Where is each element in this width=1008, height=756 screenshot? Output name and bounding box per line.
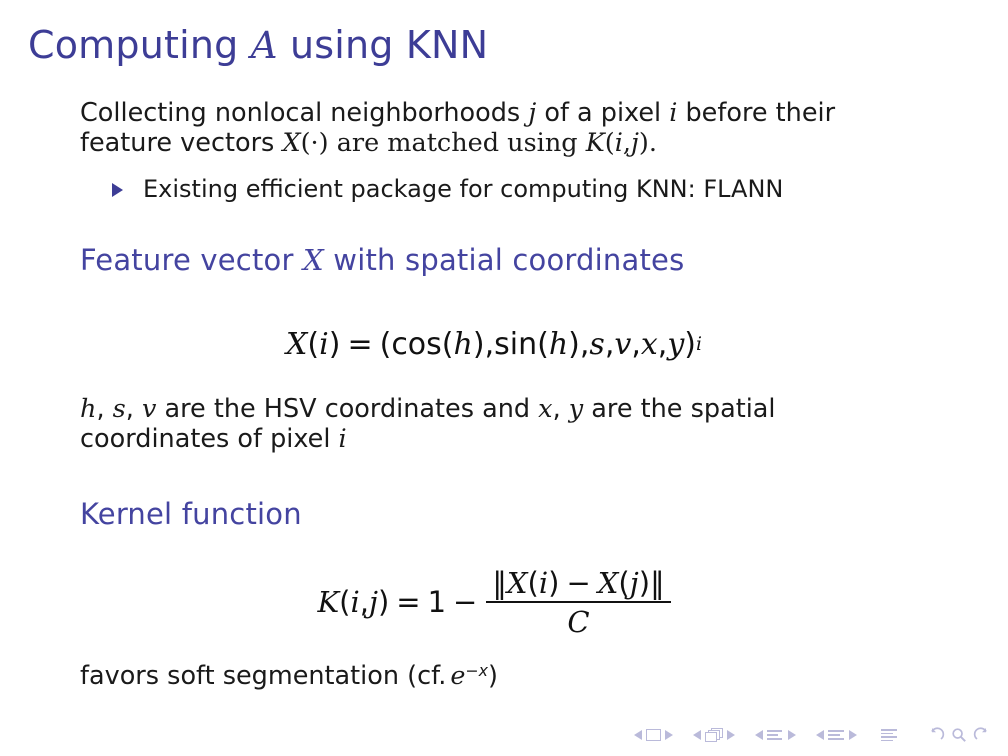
eq2-num-X1: X — [507, 566, 528, 600]
expl-comma-1: , — [96, 394, 112, 424]
eq1-lhs-i: i — [319, 326, 329, 364]
equation-feature-vector: X(i)=(cos(h), sin(h), s, v, x, y)i — [0, 326, 1008, 364]
eq1-lhs-X: X — [286, 326, 307, 364]
eq2-lhs-K: K — [317, 585, 339, 619]
go-back-icon[interactable] — [924, 727, 948, 743]
footnote-text-a: favors soft segmentation (cf. — [80, 661, 446, 691]
intro-var-X: X — [282, 128, 300, 158]
eq1-comma-5: , — [658, 326, 668, 364]
eq1-cos-paren-open: ( — [442, 326, 454, 364]
eq1-comma-3: , — [605, 326, 615, 364]
expl-var-h: h — [80, 394, 96, 424]
prev-section-icon[interactable] — [816, 730, 824, 740]
feature-vector-explanation: h, s, v are the HSV coordinates and x, y… — [0, 394, 1008, 454]
intro-paragraph: Collecting nonlocal neighborhoods j of a… — [0, 98, 1008, 158]
eq1-comma-4: , — [631, 326, 641, 364]
document-icon[interactable] — [881, 728, 898, 742]
footnote-exponent: −x — [465, 661, 488, 680]
intro-text-b: of a pixel — [536, 98, 669, 128]
eq2-minus: − — [446, 585, 484, 619]
bullet-list: Existing efficient package for computing… — [0, 174, 1008, 204]
page-title-suffix: using KNN — [278, 23, 489, 67]
list-item: Existing efficient package for computing… — [0, 174, 1008, 204]
section-icon[interactable] — [828, 728, 845, 742]
next-section-icon[interactable] — [849, 730, 857, 740]
eq1-equals: = — [340, 326, 379, 364]
intro-var-j2: j — [631, 128, 639, 158]
eq2-denominator: C — [561, 603, 595, 638]
eq1-comma-1: , — [485, 326, 495, 364]
eq1-comma-2: , — [580, 326, 590, 364]
eq1-y: y — [667, 326, 684, 364]
eq1-rhs-paren-close: ) — [684, 326, 696, 364]
subsection-navigation[interactable] — [751, 728, 800, 742]
eq1-sin-paren-close: ) — [568, 326, 580, 364]
page-title: Computing A using KNN — [28, 22, 488, 69]
equation-2-content: K(i,j)=1−‖X(i)−X(j)‖C — [317, 566, 672, 638]
next-slide-icon[interactable] — [665, 730, 673, 740]
equation-1-content: X(i)=(cos(h), sin(h), s, v, x, y)i — [286, 326, 702, 364]
eq1-subscript-i: i — [696, 326, 702, 364]
list-item-label: Existing efficient package for computing… — [143, 174, 783, 204]
next-frame-icon[interactable] — [727, 730, 735, 740]
expl-var-x: x — [538, 394, 552, 424]
eq2-num-i: i — [539, 566, 548, 600]
eq2-lhs-j: j — [369, 585, 378, 619]
eq2-num-j: j — [630, 566, 639, 600]
intro-paren-close: ). — [639, 128, 657, 158]
intro-text-a: Collecting nonlocal neighborhoods — [80, 98, 528, 128]
eq2-num-paren-open-2: ( — [618, 566, 629, 600]
eq1-cos-h: h — [454, 326, 473, 364]
eq1-x: x — [641, 326, 658, 364]
slide-icon[interactable] — [646, 729, 661, 741]
next-subsection-icon[interactable] — [788, 730, 796, 740]
expl-var-i: i — [339, 424, 347, 454]
eq2-equals: = — [389, 585, 427, 619]
equation-kernel-function: K(i,j)=1−‖X(i)−X(j)‖C — [0, 566, 1008, 638]
intro-text-d: (·) are matched using — [301, 128, 586, 158]
eq1-cos: cos — [391, 326, 441, 364]
eq2-num-minus: − — [559, 566, 597, 600]
eq2-norm-open: ‖ — [492, 566, 507, 600]
intro-var-i2: i — [615, 128, 623, 158]
footnote-e: e — [450, 661, 465, 691]
slide-body: Collecting nonlocal neighborhoods j of a… — [0, 98, 1008, 691]
intro-var-K: K — [586, 128, 605, 158]
eq2-norm-close: ‖ — [650, 566, 665, 600]
eq1-lhs-paren-close: ) — [329, 326, 341, 364]
eq1-sin-paren-open: ( — [537, 326, 549, 364]
eq1-sin: sin — [494, 326, 537, 364]
eq2-lhs-i: i — [350, 585, 359, 619]
eq1-lhs-paren-open: ( — [307, 326, 319, 364]
expl-comma-3: , — [553, 394, 569, 424]
section-navigation[interactable] — [812, 728, 861, 742]
document-navigation[interactable] — [881, 728, 898, 742]
block-heading-feature-vector: Feature vector X with spatial coordinate… — [0, 242, 1008, 278]
eq2-num-paren-close-1: ) — [548, 566, 559, 600]
triangle-right-icon — [112, 183, 123, 197]
block1-heading-suffix: with spatial coordinates — [324, 243, 685, 277]
eq2-numerator: ‖X(i)−X(j)‖ — [486, 567, 670, 601]
block-heading-kernel-function: Kernel function — [0, 496, 1008, 532]
navigation-tools[interactable] — [924, 727, 994, 743]
eq2-one: 1 — [428, 585, 446, 619]
expl-text-1: are the HSV coordinates and — [156, 394, 538, 424]
frame-navigation[interactable] — [689, 728, 739, 742]
prev-slide-icon[interactable] — [634, 730, 642, 740]
kernel-footnote: favors soft segmentation (cf.e−x) — [0, 656, 1008, 691]
intro-paren-open: ( — [605, 128, 615, 158]
eq2-lhs-paren-close: ) — [378, 585, 389, 619]
eq2-fraction: ‖X(i)−X(j)‖C — [486, 567, 670, 639]
footnote-text-b: ) — [488, 661, 498, 691]
eq1-v: v — [614, 326, 631, 364]
frame-icon[interactable] — [705, 728, 723, 742]
eq2-num-paren-open-1: ( — [528, 566, 539, 600]
eq1-s: s — [589, 326, 604, 364]
eq2-num-paren-close-2: ) — [639, 566, 650, 600]
search-icon[interactable] — [948, 727, 970, 743]
page-title-math-symbol: A — [251, 24, 278, 67]
prev-frame-icon[interactable] — [693, 730, 701, 740]
slide-navigation[interactable] — [630, 729, 677, 741]
page-title-prefix: Computing — [28, 23, 251, 67]
subsection-icon[interactable] — [767, 728, 784, 742]
block1-heading-math-symbol: X — [303, 243, 324, 277]
eq2-lhs-comma: , — [360, 585, 369, 619]
prev-subsection-icon[interactable] — [755, 730, 763, 740]
intro-comma: , — [623, 128, 631, 158]
expl-var-s: s — [113, 394, 126, 424]
eq2-lhs-paren-open: ( — [339, 585, 350, 619]
expl-comma-2: , — [126, 394, 142, 424]
beamer-navigation-bar[interactable] — [630, 724, 994, 746]
eq1-sin-h: h — [549, 326, 568, 364]
eq2-num-X2: X — [598, 566, 619, 600]
eq1-cos-paren-close: ) — [473, 326, 485, 364]
go-forward-icon[interactable] — [970, 727, 994, 743]
block1-heading-prefix: Feature vector — [80, 243, 303, 277]
expl-var-v: v — [142, 394, 156, 424]
eq1-rhs-paren-open: ( — [380, 326, 392, 364]
expl-var-y: y — [569, 394, 583, 424]
